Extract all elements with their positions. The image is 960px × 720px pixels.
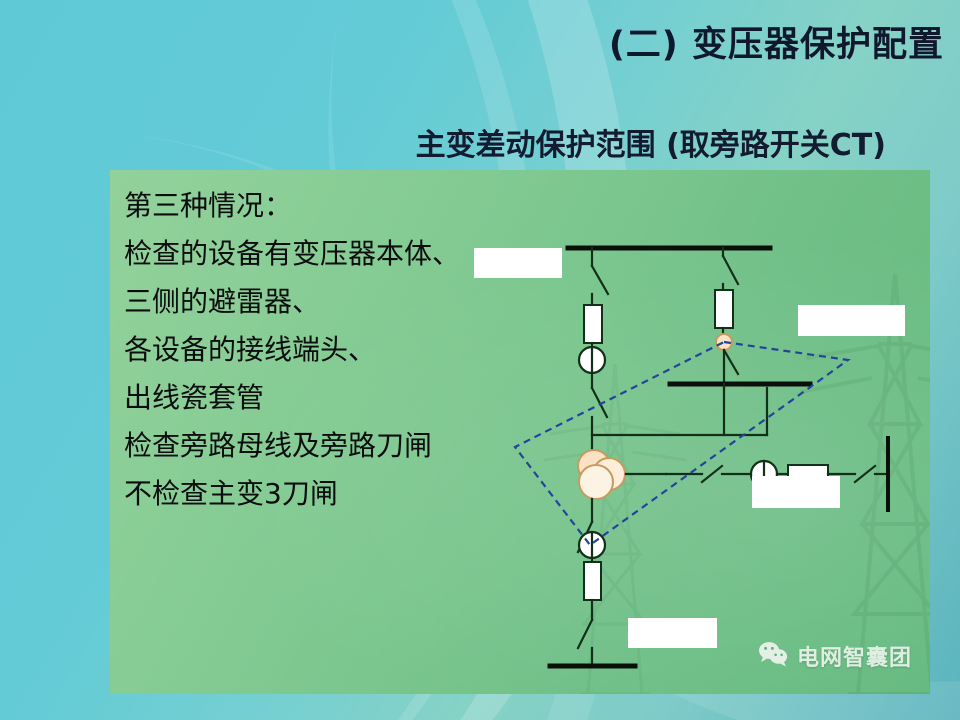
redaction-box-1 bbox=[474, 248, 562, 278]
slide-canvas: (二) 变压器保护配置 主变差动保护范围 (取旁路开关CT) bbox=[0, 0, 960, 720]
slide-subtitle: 主变差动保护范围 (取旁路开关CT) bbox=[0, 120, 886, 164]
bottom-current-transformer bbox=[584, 562, 601, 600]
left-disconnector-blade bbox=[592, 266, 608, 294]
watermark-label: 电网智囊团 bbox=[797, 640, 912, 672]
bypass-disconnector-blade bbox=[723, 256, 738, 284]
left-current-transformer bbox=[584, 305, 602, 343]
bottom-lower-disconnector-blade bbox=[578, 620, 592, 648]
content-panel: 第三种情况：检查的设备有变压器本体、三侧的避雷器、各设备的接线端头、出线瓷套管检… bbox=[110, 170, 930, 694]
wechat-icon bbox=[758, 641, 788, 672]
redaction-box-2 bbox=[798, 305, 905, 336]
protection-zone-dashed bbox=[515, 342, 848, 545]
bay-outgoing-disconnector-blade bbox=[855, 466, 875, 482]
slide-title: (二) 变压器保护配置 bbox=[0, 16, 944, 67]
bay-disconnector-blade bbox=[702, 466, 722, 482]
transformer-3winding bbox=[578, 450, 625, 499]
bypass-node-blade bbox=[724, 350, 738, 374]
bypass-current-transformer bbox=[715, 290, 733, 328]
redaction-box-4 bbox=[628, 618, 717, 648]
redaction-box-3 bbox=[752, 476, 840, 508]
watermark: 电网智囊团 bbox=[758, 640, 912, 672]
